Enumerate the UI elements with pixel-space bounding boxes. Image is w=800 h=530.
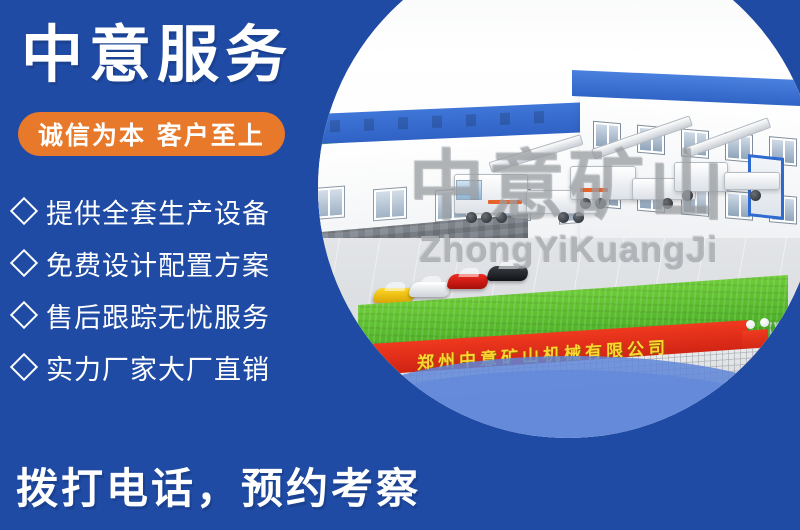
diamond-outline-icon [10, 197, 38, 225]
list-item-label: 售后跟踪无忧服务 [46, 296, 270, 335]
wheel [682, 190, 693, 201]
wheel [496, 212, 507, 223]
car-white [408, 282, 452, 297]
footer-cta: 拨打电话，预约考察 [16, 455, 421, 516]
diamond-outline-icon [10, 301, 38, 329]
wheel [573, 212, 584, 223]
list-item: 实力厂家大厂直销 [14, 341, 334, 393]
car-black [486, 266, 530, 281]
list-item: 提供全套生产设备 [14, 185, 334, 237]
wheel [481, 212, 492, 223]
factory-photo: 郑州中意矿山机械有限公司 中意矿山 ZhongYiKuangJi [318, 0, 800, 438]
list-item: 售后跟踪无忧服务 [14, 289, 334, 341]
diamond-outline-icon [10, 249, 38, 277]
gate-lamp [760, 318, 769, 327]
wheel [558, 212, 569, 223]
chassis [724, 172, 780, 190]
gate-lamp [746, 320, 755, 329]
window [374, 188, 406, 221]
tagline-text: 诚信为本 客户至上 [38, 116, 265, 152]
operator-cab [456, 180, 482, 200]
wheel [466, 212, 477, 223]
tagline-pill: 诚信为本 客户至上 [18, 112, 285, 156]
promo-poster: 郑州中意矿山机械有限公司 中意矿山 ZhongYiKuangJi 中意服务 诚信… [0, 0, 800, 530]
wheel [595, 198, 606, 209]
poster-headline: 中意服务 [21, 22, 293, 89]
list-item-label: 提供全套生产设备 [46, 192, 270, 231]
diamond-outline-icon [10, 353, 38, 381]
car-red [446, 274, 490, 289]
crusher-body [674, 162, 728, 192]
wheel [662, 198, 673, 209]
list-item-label: 免费设计配置方案 [46, 244, 270, 283]
brand-stripe [580, 188, 608, 192]
list-item-label: 实力厂家大厂直销 [46, 348, 270, 387]
wheel [580, 198, 591, 209]
wheel [750, 190, 761, 201]
factory-photo-disc: 郑州中意矿山机械有限公司 中意矿山 ZhongYiKuangJi [318, 0, 800, 438]
brand-stripe [488, 200, 522, 204]
crusher-body [570, 166, 636, 200]
list-item: 免费设计配置方案 [14, 237, 334, 289]
benefits-list: 提供全套生产设备 免费设计配置方案 售后跟踪无忧服务 实力厂家大厂直销 [14, 185, 334, 393]
